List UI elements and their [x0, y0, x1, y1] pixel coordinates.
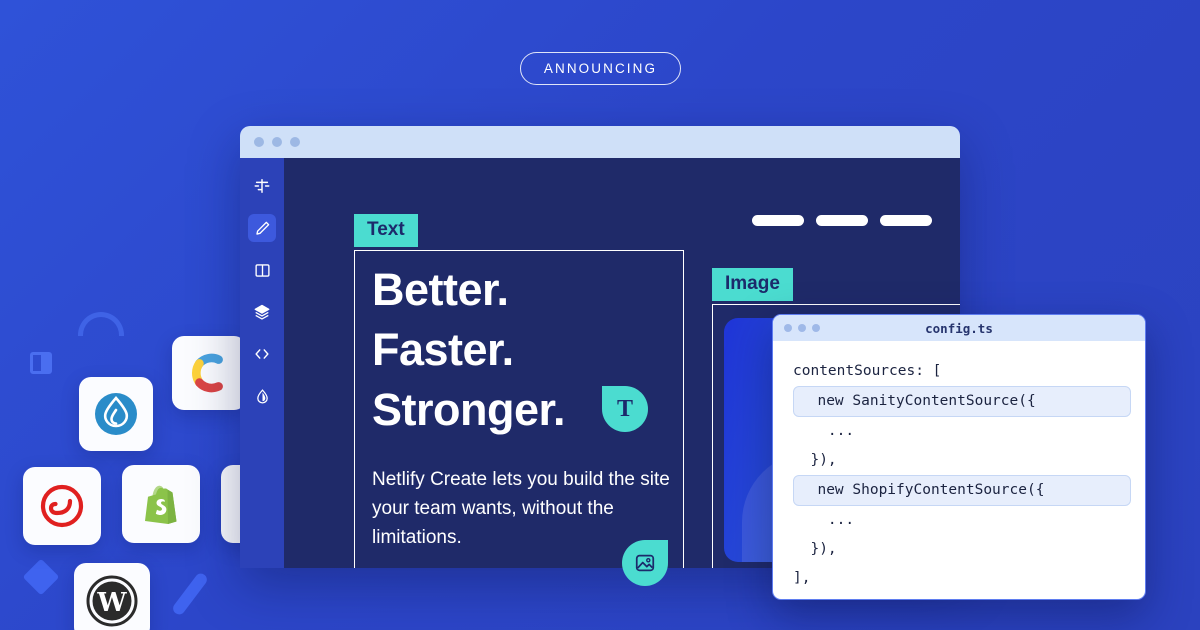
window-dot-close[interactable] [254, 137, 264, 147]
ai-sparkle-icon [253, 177, 271, 195]
subcopy: Netlify Create lets you build the site y… [372, 465, 672, 552]
droplet-theme-icon [254, 388, 271, 405]
half-square-decoration [30, 352, 52, 374]
nav-pill-1[interactable] [752, 215, 804, 226]
layout-panel-icon [254, 262, 271, 279]
code-line: new SanityContentSource({ [793, 386, 1131, 417]
text-block-chip[interactable]: Text [354, 214, 418, 247]
code-brackets-icon [253, 345, 271, 363]
code-window-titlebar: config.ts [773, 315, 1145, 341]
window-dot-maximize[interactable] [290, 137, 300, 147]
pencil-icon [254, 220, 271, 237]
contentstack-logo-tile [23, 467, 101, 545]
text-badge-glyph: T [617, 396, 633, 423]
headline-line-1: Better. [372, 260, 565, 320]
code-line: ... [787, 506, 1131, 535]
code-window: config.ts contentSources: [ new SanityCo… [772, 314, 1146, 600]
sidebar-item-edit[interactable] [248, 214, 276, 242]
arc-decoration [78, 312, 124, 336]
image-icon [634, 552, 656, 574]
headline-line-2: Faster. [372, 320, 565, 380]
diamond-decoration [23, 559, 60, 596]
contentful-logo [186, 350, 232, 396]
svg-text:W: W [96, 588, 127, 618]
editor-titlebar [240, 126, 960, 158]
wordpress-logo-tile: W [74, 563, 150, 630]
code-line: new ShopifyContentSource({ [793, 475, 1131, 506]
drupal-logo-tile [79, 377, 153, 451]
code-line: }), [787, 446, 1131, 475]
drupal-logo [92, 390, 140, 438]
nav-pill-3[interactable] [880, 215, 932, 226]
shopify-logo [137, 480, 185, 528]
code-line: }), [787, 535, 1131, 564]
layers-icon [253, 303, 271, 321]
code-window-title: config.ts [773, 321, 1145, 336]
sidebar-item-layers[interactable] [248, 298, 276, 326]
window-dot-minimize[interactable] [272, 137, 282, 147]
headline-line-3: Stronger. [372, 380, 565, 440]
code-content[interactable]: contentSources: [ new SanityContentSourc… [773, 341, 1145, 600]
shopify-logo-tile [122, 465, 200, 543]
headline: Better. Faster. Stronger. [372, 260, 565, 440]
sidebar-item-layout[interactable] [248, 256, 276, 284]
code-line: ... [787, 417, 1131, 446]
code-line: contentSources: [ [787, 357, 1131, 386]
contentstack-logo [37, 481, 87, 531]
slash-decoration [171, 571, 209, 617]
promo-banner: ANNOUNCING [0, 0, 1200, 630]
contentful-logo-tile [172, 336, 246, 410]
editor-sidebar [240, 158, 284, 568]
nav-pill-2[interactable] [816, 215, 868, 226]
announcing-label: ANNOUNCING [544, 61, 657, 76]
image-block-chip-label: Image [725, 273, 780, 294]
nav-pill-group [752, 215, 932, 226]
text-badge[interactable]: T [602, 386, 648, 432]
image-block-chip[interactable]: Image [712, 268, 793, 301]
code-line: ], [787, 564, 1131, 593]
announcing-badge: ANNOUNCING [520, 52, 681, 85]
sidebar-item-code[interactable] [248, 340, 276, 368]
sidebar-item-ai[interactable] [248, 172, 276, 200]
image-badge[interactable] [622, 540, 668, 586]
wordpress-logo: W [85, 574, 139, 628]
text-block-chip-label: Text [367, 219, 405, 240]
sidebar-item-theme[interactable] [248, 382, 276, 410]
